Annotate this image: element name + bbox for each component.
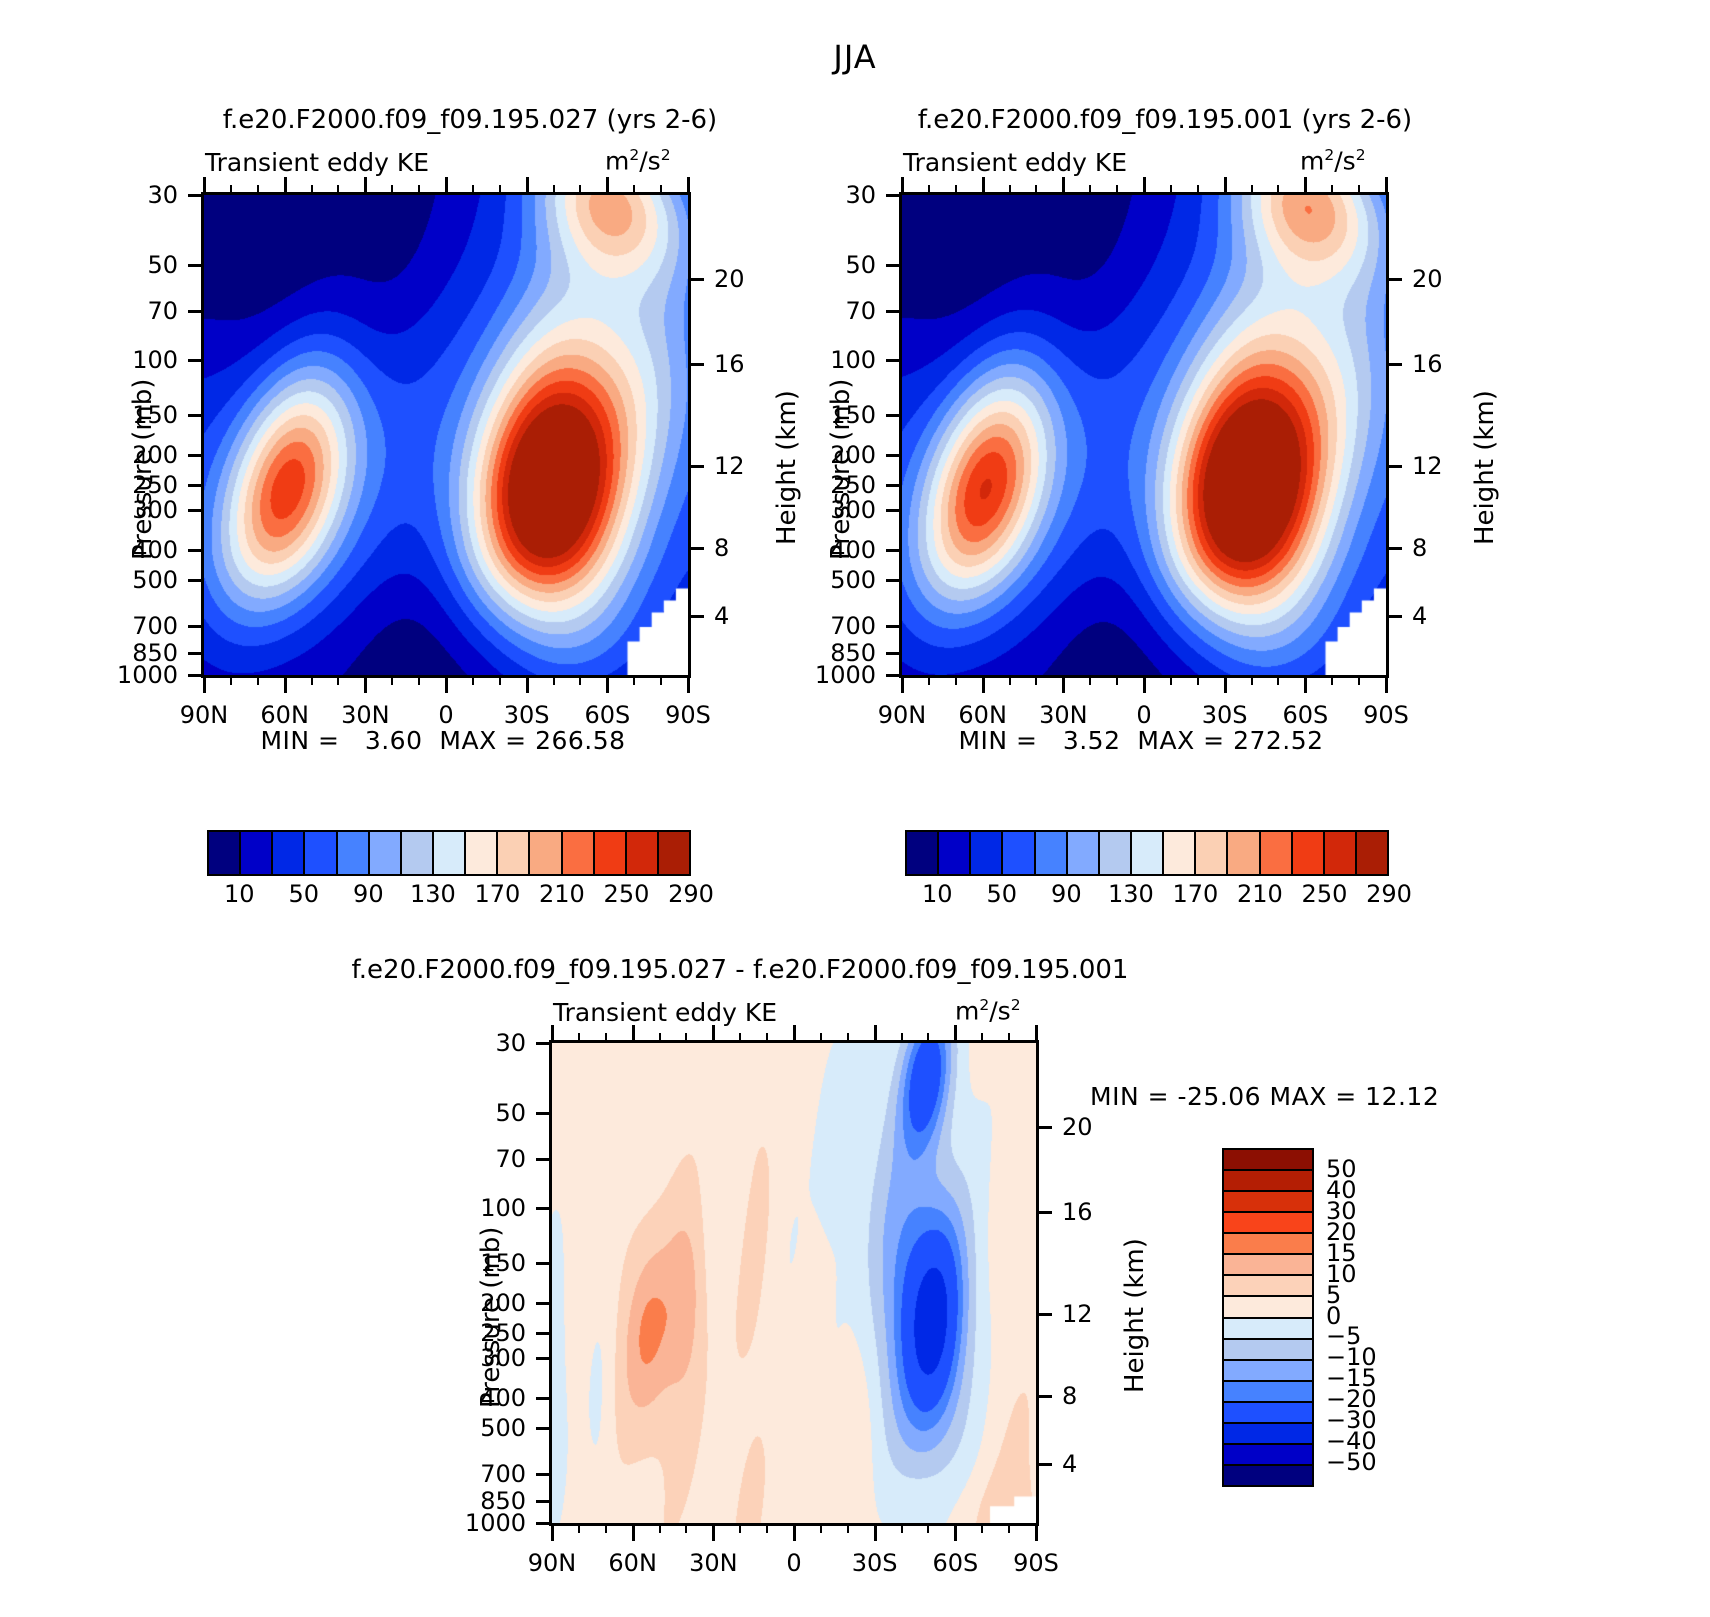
x-axis-minor-tick (578, 1523, 580, 1533)
difference-panel-y2-tick-label: 16 (1062, 1198, 1093, 1226)
right-panel-y-tick-label: 70 (845, 297, 876, 325)
y2-axis-tick (1036, 1313, 1052, 1316)
x-axis-top-minor-tick (1277, 185, 1279, 195)
left-panel-y2-tick-label: 12 (714, 452, 745, 480)
colorbar-swatch (939, 832, 971, 874)
y2-axis-tick (688, 615, 704, 618)
left-panel-colorbar-labels: 105090130170210250290 (207, 880, 687, 914)
left-panel-x-tick-label: 30N (341, 701, 390, 729)
x-axis-top-tick (1062, 177, 1065, 195)
y2-axis-tick (1036, 1395, 1052, 1398)
colorbar-swatch (1003, 832, 1035, 874)
x-axis-top-minor-tick (928, 185, 930, 195)
x-axis-top-minor-tick (847, 1033, 849, 1043)
x-axis-top-minor-tick (927, 1033, 929, 1043)
y-axis-tick (188, 579, 204, 582)
x-axis-top-minor-tick (1089, 185, 1091, 195)
x-axis-top-minor-tick (499, 185, 501, 195)
x-axis-minor-tick (391, 675, 393, 685)
y-axis-tick (536, 1207, 552, 1210)
x-axis-top-tick (901, 177, 904, 195)
y-axis-tick (188, 414, 204, 417)
colorbar-swatch (1325, 832, 1357, 874)
difference-panel-y-tick-label: 70 (495, 1145, 526, 1173)
left-max-value: 266.58 (535, 726, 625, 755)
left-panel-x-tick-label: 60S (584, 701, 630, 729)
y2-axis-tick (1036, 1126, 1052, 1129)
y-axis-tick (536, 1397, 552, 1400)
y-axis-tick (886, 484, 902, 487)
x-axis-top-minor-tick (766, 1033, 768, 1043)
x-axis-minor-tick (928, 675, 930, 685)
left-panel-variable: Transient eddy KE (205, 148, 429, 177)
x-axis-tick (1304, 675, 1307, 693)
colorbar-tick-label: 210 (539, 880, 585, 908)
x-axis-tick (982, 675, 985, 693)
x-axis-top-minor-tick (1008, 1033, 1010, 1043)
right-panel-x-tick-label: 90S (1363, 701, 1409, 729)
y2-axis-tick (688, 363, 704, 366)
y-axis-tick (886, 454, 902, 457)
left-panel-y-tick-label: 100 (132, 346, 178, 374)
x-axis-top-tick (203, 177, 206, 195)
colorbar-swatch (659, 832, 689, 874)
colorbar-swatch (1036, 832, 1068, 874)
left-panel-colorbar (207, 830, 691, 876)
x-axis-tick (364, 675, 367, 693)
x-axis-top-tick (606, 177, 609, 195)
difference-panel-y-tick-label: 700 (480, 1460, 526, 1488)
colorbar-swatch (1224, 1466, 1312, 1485)
x-axis-top-minor-tick (955, 185, 957, 195)
x-axis-minor-tick (633, 675, 635, 685)
right-max-value: 272.52 (1233, 726, 1323, 755)
left-panel-y-tick-label: 300 (132, 496, 178, 524)
right-panel-title: f.e20.F2000.f09_f09.195.001 (yrs 2-6) (770, 105, 1560, 135)
right-panel-y2-tick-label: 8 (1412, 534, 1427, 562)
left-panel-y2-axis-label: Height (km) (772, 390, 802, 545)
x-axis-minor-tick (1035, 675, 1037, 685)
left-panel-y2-tick-label: 4 (714, 602, 729, 630)
colorbar-swatch (971, 832, 1003, 874)
right-panel-x-tick-label: 60N (958, 701, 1007, 729)
x-axis-tick (687, 675, 690, 693)
x-axis-minor-tick (1277, 675, 1279, 685)
x-axis-minor-tick (499, 675, 501, 685)
left-panel-x-tick-label: 0 (438, 701, 453, 729)
y-axis-tick (536, 1332, 552, 1335)
difference-panel-y2-tick-label: 20 (1062, 1113, 1093, 1141)
difference-panel-x-tick-label: 30N (689, 1549, 738, 1577)
x-axis-minor-tick (927, 1523, 929, 1533)
difference-panel-y-tick-label: 250 (480, 1319, 526, 1347)
x-axis-top-minor-tick (820, 1033, 822, 1043)
x-axis-top-minor-tick (685, 1033, 687, 1043)
x-axis-top-tick (687, 177, 690, 195)
colorbar-swatch (1224, 1297, 1312, 1318)
x-axis-top-minor-tick (981, 1033, 983, 1043)
colorbar-swatch (1224, 1424, 1312, 1445)
colorbar-tick-label: 170 (1172, 880, 1218, 908)
x-axis-minor-tick (418, 675, 420, 685)
colorbar-swatch (241, 832, 273, 874)
colorbar-swatch (627, 832, 659, 874)
colorbar-tick-label: 90 (353, 880, 384, 908)
y-axis-tick (886, 194, 902, 197)
difference-panel-x-tick-label: 90N (528, 1549, 577, 1577)
x-axis-top-minor-tick (391, 185, 393, 195)
x-axis-top-tick (445, 177, 448, 195)
x-axis-minor-tick (230, 675, 232, 685)
right-panel-x-tick-label: 90N (878, 701, 927, 729)
x-axis-tick (284, 675, 287, 693)
units-s: /s (1334, 146, 1355, 175)
colorbar-swatch (1224, 1150, 1312, 1171)
colorbar-swatch (1224, 1403, 1312, 1424)
right-panel-y2-tick-label: 4 (1412, 602, 1427, 630)
colorbar-swatch (1100, 832, 1132, 874)
colorbar-swatch (466, 832, 498, 874)
difference-panel-y-tick-label: 50 (495, 1099, 526, 1127)
x-axis-tick (874, 1523, 877, 1541)
right-panel-y-tick-label: 250 (830, 471, 876, 499)
colorbar-tick-label: 290 (1366, 880, 1412, 908)
right-panel-x-tick-label: 0 (1136, 701, 1151, 729)
y-axis-tick (536, 1522, 552, 1525)
x-axis-top-tick (982, 177, 985, 195)
colorbar-swatch (1224, 1340, 1312, 1361)
difference-panel-y-tick-label: 100 (480, 1194, 526, 1222)
x-axis-tick (954, 1523, 957, 1541)
colorbar-swatch (1164, 832, 1196, 874)
colorbar-tick-label: 170 (474, 880, 520, 908)
x-axis-top-minor-tick (418, 185, 420, 195)
right-panel-y-tick-label: 150 (830, 401, 876, 429)
colorbar-swatch (1261, 832, 1293, 874)
right-panel-plot (899, 192, 1389, 678)
colorbar-tick-label: 290 (668, 880, 714, 908)
x-axis-top-minor-tick (605, 1033, 607, 1043)
x-axis-top-tick (284, 177, 287, 195)
colorbar-tick-label: 50 (987, 880, 1018, 908)
y-axis-tick (536, 1500, 552, 1503)
difference-panel-units: m2/s2 (955, 996, 1021, 1025)
colorbar-swatch (1132, 832, 1164, 874)
x-axis-minor-tick (1170, 675, 1172, 685)
difference-panel-x-tick-label: 90S (1013, 1549, 1059, 1577)
x-axis-top-tick (793, 1025, 796, 1043)
x-axis-minor-tick (659, 1523, 661, 1533)
y2-axis-tick (1036, 1463, 1052, 1466)
left-panel-y-tick-label: 30 (147, 181, 178, 209)
x-axis-tick (632, 1523, 635, 1541)
colorbar-swatch (1228, 832, 1260, 874)
x-axis-minor-tick (1358, 675, 1360, 685)
colorbar-swatch (1224, 1276, 1312, 1297)
x-axis-top-minor-tick (901, 1033, 903, 1043)
left-panel-plot (201, 192, 691, 678)
left-panel-y-tick-label: 70 (147, 297, 178, 325)
right-panel-y-tick-label: 1000 (815, 661, 876, 689)
colorbar-tick-label: 130 (1108, 880, 1154, 908)
colorbar-swatch (1357, 832, 1387, 874)
left-panel-y-tick-label: 50 (147, 251, 178, 279)
units-m: m (1300, 146, 1324, 175)
x-axis-top-minor-tick (1331, 185, 1333, 195)
right-panel-y-tick-label: 50 (845, 251, 876, 279)
x-axis-minor-tick (337, 675, 339, 685)
x-axis-top-tick (712, 1025, 715, 1043)
x-axis-top-tick (526, 177, 529, 195)
right-panel-variable: Transient eddy KE (903, 148, 1127, 177)
colorbar-swatch (1224, 1171, 1312, 1192)
x-axis-minor-tick (311, 675, 313, 685)
y2-axis-tick (1386, 615, 1402, 618)
x-axis-top-minor-tick (337, 185, 339, 195)
x-axis-top-minor-tick (660, 185, 662, 195)
difference-panel-y-tick-label: 300 (480, 1344, 526, 1372)
difference-panel-y-tick-label: 400 (480, 1384, 526, 1412)
difference-panel-title: f.e20.F2000.f09_f09.195.027 - f.e20.F200… (160, 955, 1320, 985)
x-axis-tick (712, 1523, 715, 1541)
right-panel-x-tick-label: 60S (1282, 701, 1328, 729)
x-axis-top-tick (1143, 177, 1146, 195)
right-panel-x-tick-label: 30N (1039, 701, 1088, 729)
colorbar-swatch (1224, 1382, 1312, 1403)
difference-panel-y-tick-label: 30 (495, 1029, 526, 1057)
y-axis-tick (188, 194, 204, 197)
y-axis-tick (536, 1158, 552, 1161)
difference-panel-y-tick-label: 500 (480, 1414, 526, 1442)
right-panel-y-tick-label: 500 (830, 566, 876, 594)
x-axis-top-minor-tick (739, 1033, 741, 1043)
left-panel-minmax: MIN = 3.60 MAX = 266.58 (201, 726, 685, 755)
right-panel-y2-axis-label: Height (km) (1470, 390, 1500, 545)
right-min-value: 3.52 (1063, 726, 1121, 755)
y2-axis-tick (688, 465, 704, 468)
left-panel-y-tick-label: 250 (132, 471, 178, 499)
left-panel-y-tick-label: 400 (132, 536, 178, 564)
y2-axis-tick (688, 278, 704, 281)
y2-axis-tick (1386, 363, 1402, 366)
left-panel-y-tick-label: 200 (132, 441, 178, 469)
x-axis-minor-tick (553, 675, 555, 685)
y-axis-tick (886, 264, 902, 267)
left-min-label: MIN = (260, 726, 339, 755)
left-panel-x-tick-label: 90S (665, 701, 711, 729)
difference-panel-plot (549, 1040, 1039, 1526)
colorbar-swatch (338, 832, 370, 874)
colorbar-tick-label: −50 (1326, 1448, 1377, 1476)
right-max-label: MAX = (1137, 726, 1224, 755)
left-panel-y-tick-label: 700 (132, 612, 178, 640)
right-panel-y-tick-label: 400 (830, 536, 876, 564)
y2-axis-tick (1386, 547, 1402, 550)
x-axis-minor-tick (1008, 1523, 1010, 1533)
colorbar-tick-label: 90 (1051, 880, 1082, 908)
colorbar-swatch (402, 832, 434, 874)
colorbar-tick-label: 50 (289, 880, 320, 908)
y-axis-tick (886, 310, 902, 313)
left-panel-y-tick-label: 150 (132, 401, 178, 429)
right-min-label: MIN = (958, 726, 1037, 755)
y-axis-tick (536, 1357, 552, 1360)
x-axis-minor-tick (1331, 675, 1333, 685)
colorbar-swatch (907, 832, 939, 874)
colorbar-swatch (498, 832, 530, 874)
y-axis-tick (886, 549, 902, 552)
difference-panel-colorbar (1222, 1148, 1314, 1487)
y2-axis-tick (1386, 278, 1402, 281)
y-axis-tick (188, 625, 204, 628)
x-axis-top-tick (364, 177, 367, 195)
y2-axis-tick (688, 547, 704, 550)
colorbar-swatch (1224, 1192, 1312, 1213)
y-axis-tick (188, 509, 204, 512)
right-panel-colorbar (905, 830, 1389, 876)
y-axis-tick (536, 1262, 552, 1265)
x-axis-top-tick (551, 1025, 554, 1043)
right-panel-colorbar-labels: 105090130170210250290 (905, 880, 1385, 914)
colorbar-swatch (1224, 1445, 1312, 1466)
x-axis-top-tick (1304, 177, 1307, 195)
left-panel-x-tick-label: 30S (504, 701, 550, 729)
right-panel-y-tick-label: 200 (830, 441, 876, 469)
right-panel-units: m2/s2 (1300, 146, 1366, 175)
right-panel-y2-tick-label: 20 (1412, 265, 1443, 293)
difference-panel-y2-tick-label: 4 (1062, 1450, 1077, 1478)
colorbar-swatch (1224, 1234, 1312, 1255)
x-axis-minor-tick (472, 675, 474, 685)
colorbar-swatch (1224, 1361, 1312, 1382)
colorbar-tick-label: 250 (604, 880, 650, 908)
y-axis-tick (188, 310, 204, 313)
right-panel-y-tick-label: 700 (830, 612, 876, 640)
x-axis-minor-tick (981, 1523, 983, 1533)
colorbar-swatch (1068, 832, 1100, 874)
x-axis-top-tick (1385, 177, 1388, 195)
units-s: /s (639, 146, 660, 175)
y-axis-tick (536, 1427, 552, 1430)
x-axis-minor-tick (1089, 675, 1091, 685)
colorbar-tick-label: 250 (1302, 880, 1348, 908)
x-axis-tick (1224, 675, 1227, 693)
right-panel-minmax: MIN = 3.52 MAX = 272.52 (899, 726, 1383, 755)
left-panel-y2-tick-label: 16 (714, 350, 745, 378)
x-axis-tick (445, 675, 448, 693)
y-axis-tick (188, 652, 204, 655)
x-axis-minor-tick (579, 675, 581, 685)
x-axis-minor-tick (766, 1523, 768, 1533)
x-axis-top-minor-tick (579, 185, 581, 195)
difference-panel-y-tick-label: 150 (480, 1249, 526, 1277)
x-axis-minor-tick (660, 675, 662, 685)
x-axis-minor-tick (1009, 675, 1011, 685)
x-axis-minor-tick (605, 1523, 607, 1533)
colorbar-swatch (1224, 1255, 1312, 1276)
difference-panel-y-tick-label: 1000 (465, 1509, 526, 1537)
right-panel-y-tick-label: 300 (830, 496, 876, 524)
left-panel-title: f.e20.F2000.f09_f09.195.027 (yrs 2-6) (75, 105, 865, 135)
y-axis-tick (536, 1473, 552, 1476)
y-axis-tick (886, 652, 902, 655)
x-axis-minor-tick (685, 1523, 687, 1533)
colorbar-swatch (434, 832, 466, 874)
x-axis-tick (203, 675, 206, 693)
y-axis-tick (886, 579, 902, 582)
x-axis-top-minor-tick (553, 185, 555, 195)
x-axis-top-minor-tick (1116, 185, 1118, 195)
x-axis-tick (1143, 675, 1146, 693)
x-axis-tick (606, 675, 609, 693)
y-axis-tick (886, 625, 902, 628)
x-axis-top-minor-tick (311, 185, 313, 195)
left-panel-x-tick-label: 90N (180, 701, 229, 729)
x-axis-top-tick (1035, 1025, 1038, 1043)
left-panel-y-tick-label: 500 (132, 566, 178, 594)
x-axis-tick (901, 675, 904, 693)
right-panel-y2-tick-label: 16 (1412, 350, 1443, 378)
x-axis-top-minor-tick (1009, 185, 1011, 195)
x-axis-minor-tick (847, 1523, 849, 1533)
y-axis-tick (188, 454, 204, 457)
x-axis-top-minor-tick (1035, 185, 1037, 195)
x-axis-top-minor-tick (1197, 185, 1199, 195)
right-panel-y-tick-label: 30 (845, 181, 876, 209)
difference-panel-variable: Transient eddy KE (553, 998, 777, 1027)
y-axis-tick (886, 359, 902, 362)
colorbar-swatch (370, 832, 402, 874)
left-max-label: MAX = (439, 726, 526, 755)
x-axis-top-minor-tick (659, 1033, 661, 1043)
y-axis-tick (188, 359, 204, 362)
colorbar-swatch (1196, 832, 1228, 874)
x-axis-top-minor-tick (1170, 185, 1172, 195)
x-axis-top-tick (954, 1025, 957, 1043)
left-panel-y2-tick-label: 20 (714, 265, 745, 293)
colorbar-tick-label: 210 (1237, 880, 1283, 908)
x-axis-top-tick (632, 1025, 635, 1043)
y-axis-tick (188, 484, 204, 487)
x-axis-tick (1035, 1523, 1038, 1541)
difference-panel-y2-tick-label: 8 (1062, 1382, 1077, 1410)
x-axis-tick (1062, 675, 1065, 693)
difference-panel-y2-axis-label: Height (km) (1120, 1238, 1150, 1393)
x-axis-minor-tick (1116, 675, 1118, 685)
colorbar-swatch (1224, 1213, 1312, 1234)
x-axis-minor-tick (901, 1523, 903, 1533)
x-axis-minor-tick (820, 1523, 822, 1533)
difference-panel-x-tick-label: 60S (932, 1549, 978, 1577)
x-axis-tick (793, 1523, 796, 1541)
colorbar-swatch (1224, 1319, 1312, 1340)
right-panel-x-tick-label: 30S (1202, 701, 1248, 729)
y-axis-tick (536, 1112, 552, 1115)
y-axis-tick (188, 264, 204, 267)
difference-panel-y2-tick-label: 12 (1062, 1300, 1093, 1328)
y-axis-tick (886, 509, 902, 512)
units-m: m (605, 146, 629, 175)
x-axis-tick (526, 675, 529, 693)
x-axis-top-minor-tick (230, 185, 232, 195)
colorbar-swatch (530, 832, 562, 874)
x-axis-top-minor-tick (633, 185, 635, 195)
y-axis-tick (536, 1302, 552, 1305)
left-panel-y2-tick-label: 8 (714, 534, 729, 562)
colorbar-tick-label: 10 (224, 880, 255, 908)
x-axis-top-minor-tick (472, 185, 474, 195)
y-axis-tick (536, 1042, 552, 1045)
